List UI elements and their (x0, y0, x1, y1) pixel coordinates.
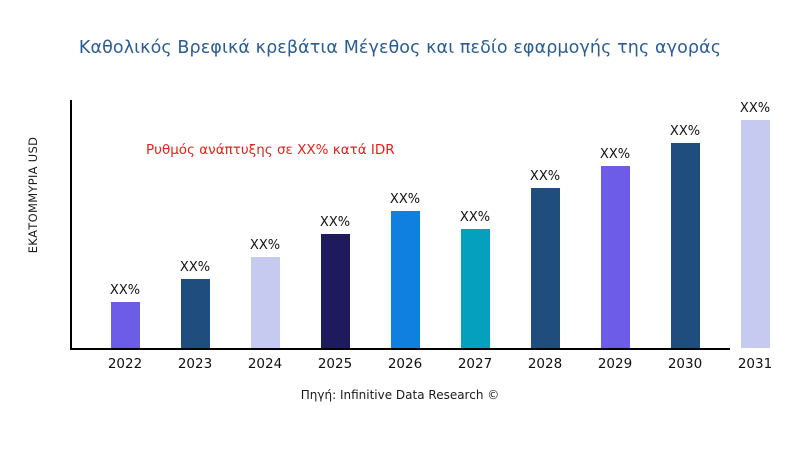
bar-value-label-2024: XX% (250, 238, 280, 253)
bar-2022[interactable]: XX% (111, 302, 140, 348)
bar-2029[interactable]: XX% (601, 166, 630, 348)
y-axis-title: ΕΚΑΤΟΜΜΥΡΙΑ USD (22, 70, 44, 320)
growth-rate-annotation: Ρυθμός ανάπτυξης σε XX% κατά IDR (146, 142, 395, 158)
y-axis-line (70, 100, 72, 350)
x-tick-2024: 2024 (235, 356, 295, 372)
bar-2028[interactable]: XX% (531, 188, 560, 348)
bar-2031[interactable]: XX% (741, 120, 770, 348)
y-axis-title-text: ΕΚΑΤΟΜΜΥΡΙΑ USD (26, 137, 40, 254)
x-axis-line (70, 348, 730, 350)
x-tick-2030: 2030 (655, 356, 715, 372)
x-axis-tick-labels: 2022202320242025202620272028202920302031 (70, 356, 782, 378)
bar-2025[interactable]: XX% (321, 234, 350, 348)
bar-value-label-2022: XX% (110, 283, 140, 298)
bar-2026[interactable]: XX% (391, 211, 420, 348)
bar-value-label-2031: XX% (740, 101, 770, 116)
bar-value-label-2029: XX% (600, 147, 630, 162)
plot-area: Ρυθμός ανάπτυξης σε XX% κατά IDR XX%XX%X… (70, 100, 782, 350)
x-tick-2023: 2023 (165, 356, 225, 372)
x-tick-2025: 2025 (305, 356, 365, 372)
bar-2030[interactable]: XX% (671, 143, 700, 348)
bar-2027[interactable]: XX% (461, 229, 490, 348)
bar-value-label-2025: XX% (320, 215, 350, 230)
x-tick-2031: 2031 (725, 356, 785, 372)
bar-value-label-2030: XX% (670, 124, 700, 139)
source-caption: Πηγή: Infinitive Data Research © (0, 388, 800, 402)
x-tick-2028: 2028 (515, 356, 575, 372)
chart-title: Καθολικός Βρεφικά κρεβάτια Μέγεθος και π… (0, 38, 800, 58)
bar-2023[interactable]: XX% (181, 279, 210, 348)
bar-value-label-2027: XX% (460, 210, 490, 225)
x-tick-2029: 2029 (585, 356, 645, 372)
x-tick-2022: 2022 (95, 356, 155, 372)
bar-chart: Καθολικός Βρεφικά κρεβάτια Μέγεθος και π… (0, 0, 800, 450)
x-tick-2026: 2026 (375, 356, 435, 372)
bar-2024[interactable]: XX% (251, 257, 280, 348)
x-tick-2027: 2027 (445, 356, 505, 372)
bar-value-label-2028: XX% (530, 169, 560, 184)
bar-value-label-2026: XX% (390, 192, 420, 207)
bar-value-label-2023: XX% (180, 260, 210, 275)
